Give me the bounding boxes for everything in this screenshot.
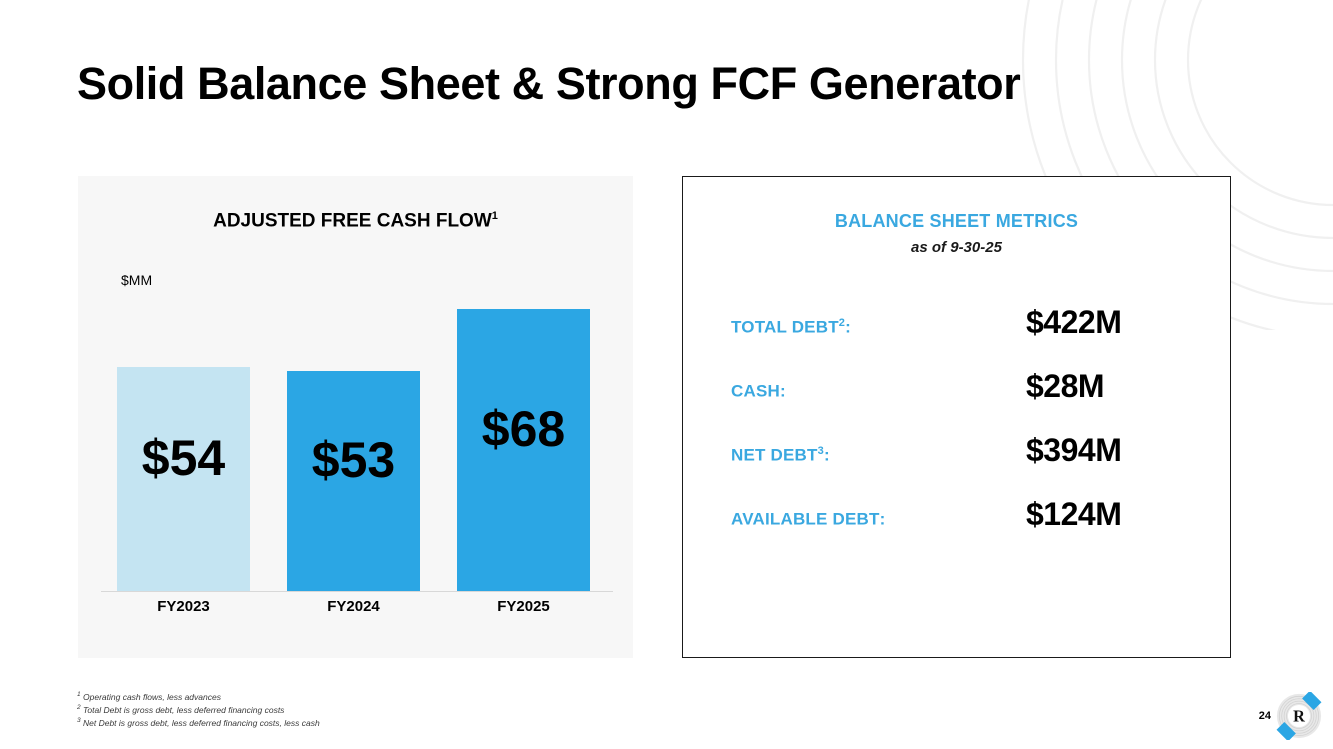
footnote-1: 1 Operating cash flows, less advances (77, 690, 320, 703)
footnote-marker: 1 (77, 691, 81, 698)
chart-plot-area: $54 $53 $68 (101, 292, 613, 592)
metric-value-net-debt: $394M (1026, 432, 1121, 469)
brand-logo-icon: R (1275, 692, 1323, 740)
chart-axis-line (101, 591, 613, 592)
metric-row: TOTAL DEBT2: $422M (731, 304, 1182, 368)
bar-1: $53 (287, 371, 420, 592)
metrics-subtitle: as of 9-30-25 (683, 239, 1230, 256)
bar-2: $68 (457, 309, 590, 592)
footnote-3: 3 Net Debt is gross debt, less deferred … (77, 716, 320, 729)
metric-label-available-debt: AVAILABLE DEBT: (731, 509, 1026, 530)
metric-label-text: TOTAL DEBT (731, 318, 839, 337)
metric-label-colon: : (780, 382, 786, 401)
footnotes: 1 Operating cash flows, less advances 2 … (77, 690, 320, 729)
bar-0: $54 (117, 367, 250, 592)
metric-label-colon: : (845, 318, 851, 337)
adjusted-free-cash-flow-chart: ADJUSTED FREE CASH FLOW1 $MM $54 $53 $68… (78, 176, 633, 658)
metric-label-cash: CASH: (731, 381, 1026, 402)
footnote-text: Total Debt is gross debt, less deferred … (83, 705, 284, 715)
metric-row: NET DEBT3: $394M (731, 432, 1182, 496)
page-title: Solid Balance Sheet & Strong FCF Generat… (77, 58, 1020, 110)
footnote-marker: 3 (77, 717, 81, 724)
metric-label-text: NET DEBT (731, 446, 818, 465)
x-tick-label-0: FY2023 (117, 598, 250, 615)
footnote-text: Net Debt is gross debt, less deferred fi… (83, 718, 320, 728)
metric-label-text: AVAILABLE DEBT (731, 510, 880, 529)
footnote-marker: 2 (77, 704, 81, 711)
chart-title: ADJUSTED FREE CASH FLOW1 (78, 210, 633, 232)
metric-value-cash: $28M (1026, 368, 1104, 405)
metric-label-net-debt: NET DEBT3: (731, 445, 1026, 466)
metric-label-colon: : (880, 510, 886, 529)
chart-title-superscript: 1 (492, 210, 498, 222)
chart-title-text: ADJUSTED FREE CASH FLOW (213, 210, 492, 231)
metric-label-total-debt: TOTAL DEBT2: (731, 317, 1026, 338)
metric-value-total-debt: $422M (1026, 304, 1121, 341)
bar-value-2: $68 (482, 404, 565, 454)
metric-row: CASH: $28M (731, 368, 1182, 432)
footnote-text: Operating cash flows, less advances (83, 692, 221, 702)
metric-label-colon: : (824, 446, 830, 465)
x-tick-label-2: FY2025 (457, 598, 590, 615)
metrics-list: TOTAL DEBT2: $422M CASH: $28M NET DEBT3:… (683, 304, 1230, 560)
footnote-2: 2 Total Debt is gross debt, less deferre… (77, 703, 320, 716)
page-number: 24 (1259, 710, 1271, 722)
metric-label-text: CASH (731, 382, 780, 401)
metric-value-available-debt: $124M (1026, 496, 1121, 533)
metrics-title: BALANCE SHEET METRICS (683, 211, 1230, 232)
svg-text:R: R (1293, 707, 1305, 726)
x-tick-label-1: FY2024 (287, 598, 420, 615)
metric-row: AVAILABLE DEBT: $124M (731, 496, 1182, 560)
bar-value-0: $54 (142, 433, 225, 483)
bar-value-1: $53 (312, 435, 395, 485)
balance-sheet-metrics-box: BALANCE SHEET METRICS as of 9-30-25 TOTA… (682, 176, 1231, 658)
chart-units-label: $MM (121, 272, 152, 288)
